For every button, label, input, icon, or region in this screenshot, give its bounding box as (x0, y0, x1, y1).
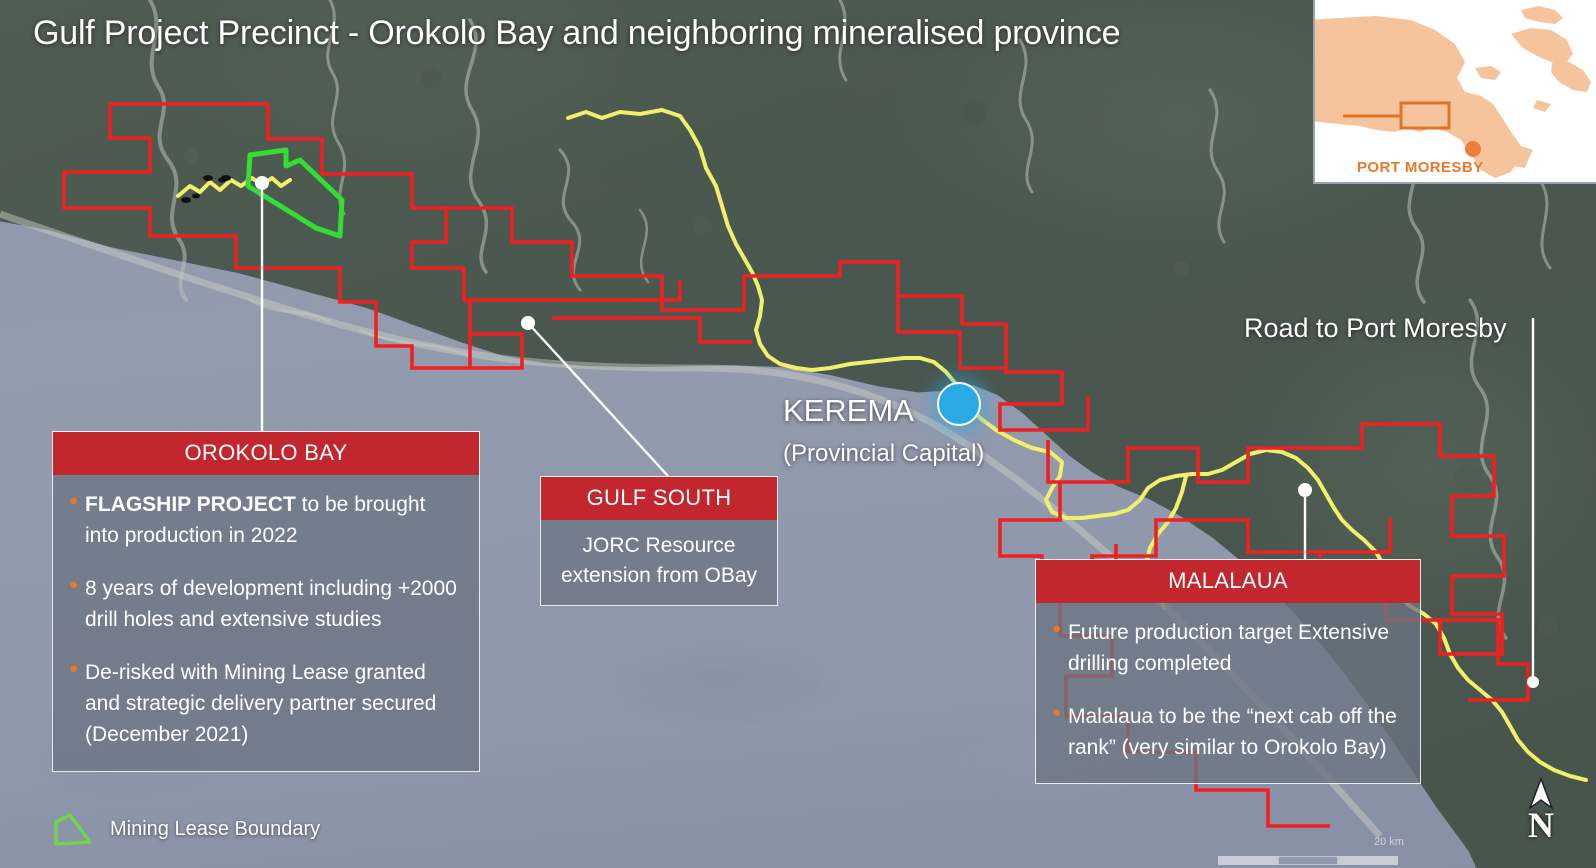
callout-panel-gulf-south[interactable]: GULF SOUTH JORC Resource extension from … (540, 476, 778, 606)
bullet-text: 8 years of development including +2000 d… (85, 573, 461, 635)
inset-locator-map: PORT MORESBY (1313, 0, 1596, 184)
page-title: Gulf Project Precinct - Orokolo Bay and … (33, 14, 1120, 53)
bullet-text: Malalaua to be the “next cab off the ran… (1068, 701, 1402, 763)
bullet-item: ● Future production target Extensive dri… (1052, 617, 1402, 679)
north-arrow-letter: N (1518, 812, 1564, 838)
map-scale-label: 20 km (1374, 836, 1404, 848)
scale-segment (1218, 856, 1278, 865)
bullet-text: FLAGSHIP PROJECT to be brought into prod… (85, 489, 461, 551)
bullet-dot-icon: ● (69, 657, 85, 750)
bullet-item: ● De-risked with Mining Lease granted an… (69, 657, 461, 750)
panel-body-gulf-south: JORC Resource extension from OBay (541, 520, 777, 605)
map-scale-bar (1218, 856, 1398, 865)
slide-canvas: Gulf Project Precinct - Orokolo Bay and … (0, 0, 1596, 868)
callout-panel-orokolo-bay[interactable]: OROKOLO BAY ● FLAGSHIP PROJECT to be bro… (52, 431, 480, 772)
bullet-item: ● 8 years of development including +2000… (69, 573, 461, 635)
map-label-kerema-subtitle: (Provincial Capital) (783, 440, 984, 468)
north-arrow: N (1518, 778, 1564, 838)
map-label-road-to-port-moresby: Road to Port Moresby (1244, 313, 1507, 344)
bullet-dot-icon: ● (69, 489, 85, 551)
bullet-strong: FLAGSHIP PROJECT (85, 493, 296, 516)
scale-segment (1278, 856, 1338, 865)
map-legend: Mining Lease Boundary (50, 812, 320, 846)
panel-header-gulf-south: GULF SOUTH (541, 477, 777, 520)
bullet-dot-icon: ● (69, 573, 85, 635)
kerema-city-marker (937, 382, 981, 426)
map-label-kerema: KEREMA (783, 393, 914, 429)
scale-segment (1338, 856, 1398, 865)
panel-body-orokolo-bay: ● FLAGSHIP PROJECT to be brought into pr… (53, 475, 479, 771)
legend-label-mining-lease: Mining Lease Boundary (110, 818, 320, 841)
inset-label-port-moresby: PORT MORESBY (1357, 159, 1483, 176)
mining-lease-swatch-icon (50, 812, 96, 846)
bullet-text: Future production target Extensive drill… (1068, 617, 1402, 679)
inset-map-graphic (1315, 0, 1596, 184)
bullet-item: ● FLAGSHIP PROJECT to be brought into pr… (69, 489, 461, 551)
panel-body-malalaua: ● Future production target Extensive dri… (1036, 603, 1420, 783)
panel-header-orokolo-bay: OROKOLO BAY (53, 432, 479, 475)
bullet-item: ● Malalaua to be the “next cab off the r… (1052, 701, 1402, 763)
callout-panel-malalaua[interactable]: MALALAUA ● Future production target Exte… (1035, 559, 1421, 784)
bullet-dot-icon: ● (1052, 617, 1068, 679)
bullet-dot-icon: ● (1052, 701, 1068, 763)
bullet-text: De-risked with Mining Lease granted and … (85, 657, 461, 750)
inset-port-moresby-dot (1465, 141, 1481, 157)
panel-header-malalaua: MALALAUA (1036, 560, 1420, 603)
